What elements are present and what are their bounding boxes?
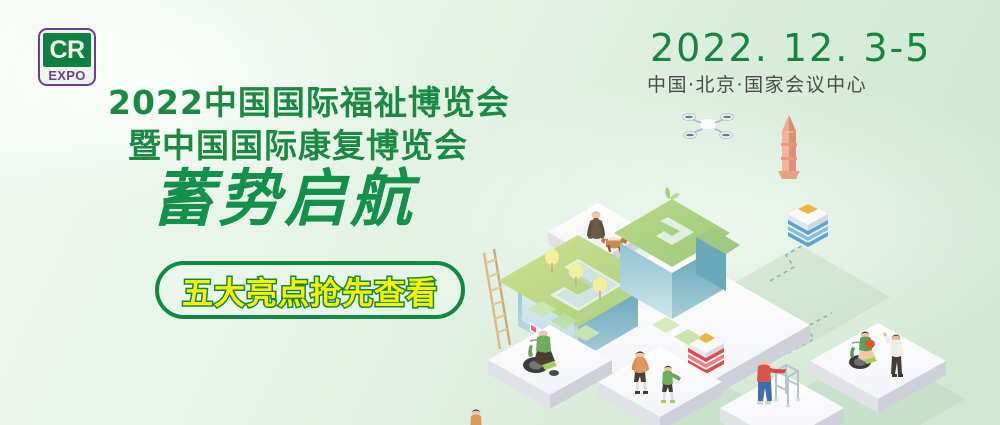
promo-banner: CR EXPO 2022中国国际福祉博览会 暨中国国际康复博览会 蓄势启航 五大… bbox=[0, 0, 1000, 425]
quadcopter-drone bbox=[683, 114, 734, 139]
bystander-person bbox=[470, 410, 482, 425]
headline-slogan: 蓄势启航 bbox=[152, 168, 416, 230]
stacked-blue-blocks bbox=[788, 203, 828, 247]
cr-expo-logo[interactable]: CR EXPO bbox=[38, 28, 96, 86]
title-line-1: 2022中国国际福祉博览会 bbox=[108, 76, 510, 124]
highlights-cta-label: 五大亮点抢先查看 bbox=[182, 268, 438, 313]
event-date: 2022. 12. 3-5 bbox=[650, 26, 931, 70]
ladder bbox=[484, 249, 510, 349]
logo-mark-text: CR bbox=[43, 33, 91, 67]
title-line-2: 暨中国国际康复博览会 bbox=[128, 119, 468, 167]
logo-sub-text: EXPO bbox=[43, 68, 91, 84]
isometric-illustration bbox=[470, 85, 1000, 425]
obelisk-monument bbox=[778, 115, 800, 179]
event-venue: 中国·北京·国家会议中心 bbox=[647, 70, 867, 97]
highlights-cta-button[interactable]: 五大亮点抢先查看 bbox=[155, 261, 465, 319]
